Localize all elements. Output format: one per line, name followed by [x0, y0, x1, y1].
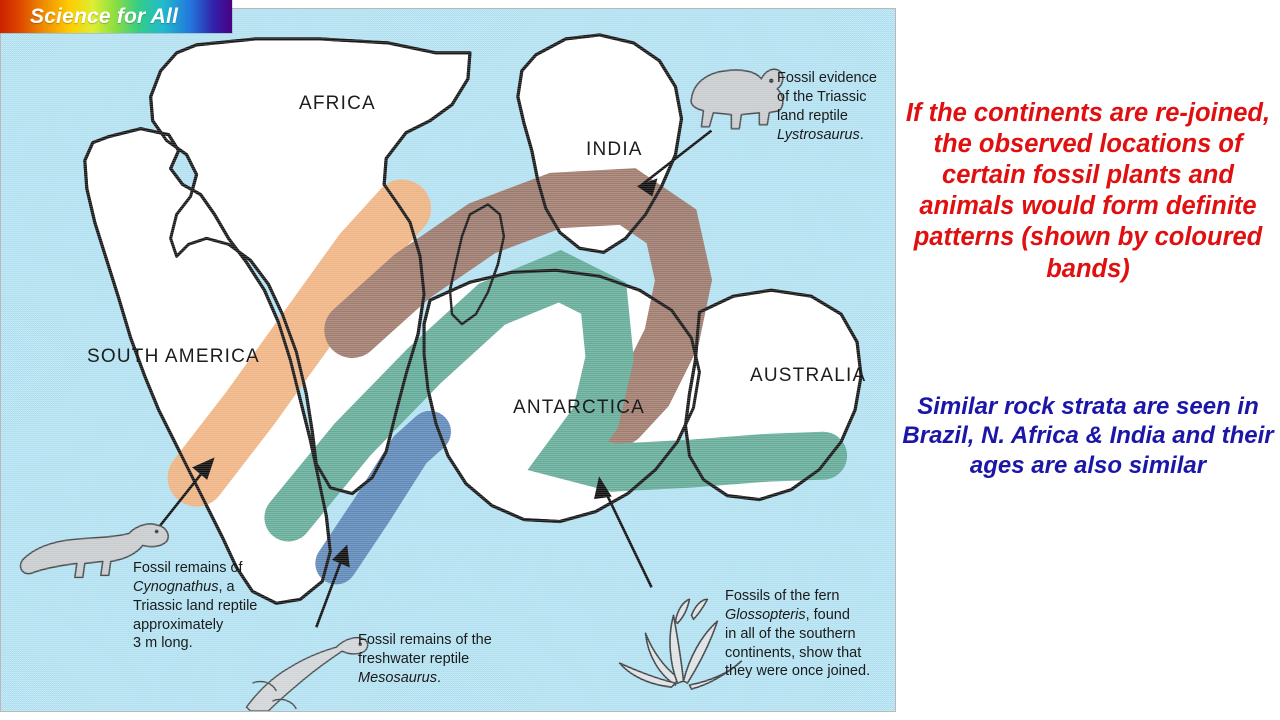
mesosaurus-caption-line: Fossil remains of the	[358, 631, 518, 650]
lystrosaurus-caption-line: land reptile	[777, 107, 895, 126]
cynognathus-caption-line: approximately	[133, 616, 293, 635]
glossopteris-caption-line: Fossils of the fern	[725, 587, 895, 606]
lystrosaurus-caption-line: Lystrosaurus.	[777, 126, 895, 145]
slide: AFRICA INDIA SOUTH AMERICA ANTARCTICA AU…	[0, 0, 1280, 720]
map-label-india: INDIA	[586, 139, 643, 161]
lystrosaurus-caption: Fossil evidenceof the Triassicland repti…	[777, 69, 895, 144]
cynognathus-caption-line: 3 m long.	[133, 634, 293, 653]
mesosaurus-caption-line: freshwater reptile	[358, 650, 518, 669]
cynognathus-caption-line: Fossil remains of	[133, 559, 293, 578]
glossopteris-caption-line: continents, show that	[725, 644, 895, 663]
map-label-south-america: SOUTH AMERICA	[87, 346, 260, 368]
glossopteris-caption-line: in all of the southern	[725, 625, 895, 644]
map-label-antarctica: ANTARCTICA	[513, 397, 645, 419]
glossopteris-caption-line: they were once joined.	[725, 662, 895, 681]
map-label-australia: AUSTRALIA	[750, 365, 866, 387]
paragraph-rock-strata: Similar rock strata are seen in Brazil, …	[902, 392, 1274, 480]
science-for-all-logo: Science for All	[0, 0, 232, 33]
map-label-africa: AFRICA	[299, 93, 376, 115]
mesosaurus-caption: Fossil remains of thefreshwater reptileM…	[358, 631, 518, 688]
lystrosaurus-caption-line: of the Triassic	[777, 88, 895, 107]
cynognathus-caption-line: Triassic land reptile	[133, 597, 293, 616]
lystrosaurus-caption-line: Fossil evidence	[777, 69, 895, 88]
cynognathus-caption: Fossil remains ofCynognathus, aTriassic …	[133, 559, 293, 653]
logo-label: Science for All	[0, 6, 178, 27]
pangaea-map: AFRICA INDIA SOUTH AMERICA ANTARCTICA AU…	[0, 8, 896, 712]
explanation-panel: If the continents are re-joined, the obs…	[896, 0, 1280, 720]
glossopteris-caption: Fossils of the fernGlossopteris, foundin…	[725, 587, 895, 681]
mesosaurus-caption-line: Mesosaurus.	[358, 669, 518, 688]
glossopteris-caption-line: Glossopteris, found	[725, 606, 895, 625]
paragraph-fossil-patterns: If the continents are re-joined, the obs…	[902, 98, 1274, 285]
cynognathus-caption-line: Cynognathus, a	[133, 578, 293, 597]
